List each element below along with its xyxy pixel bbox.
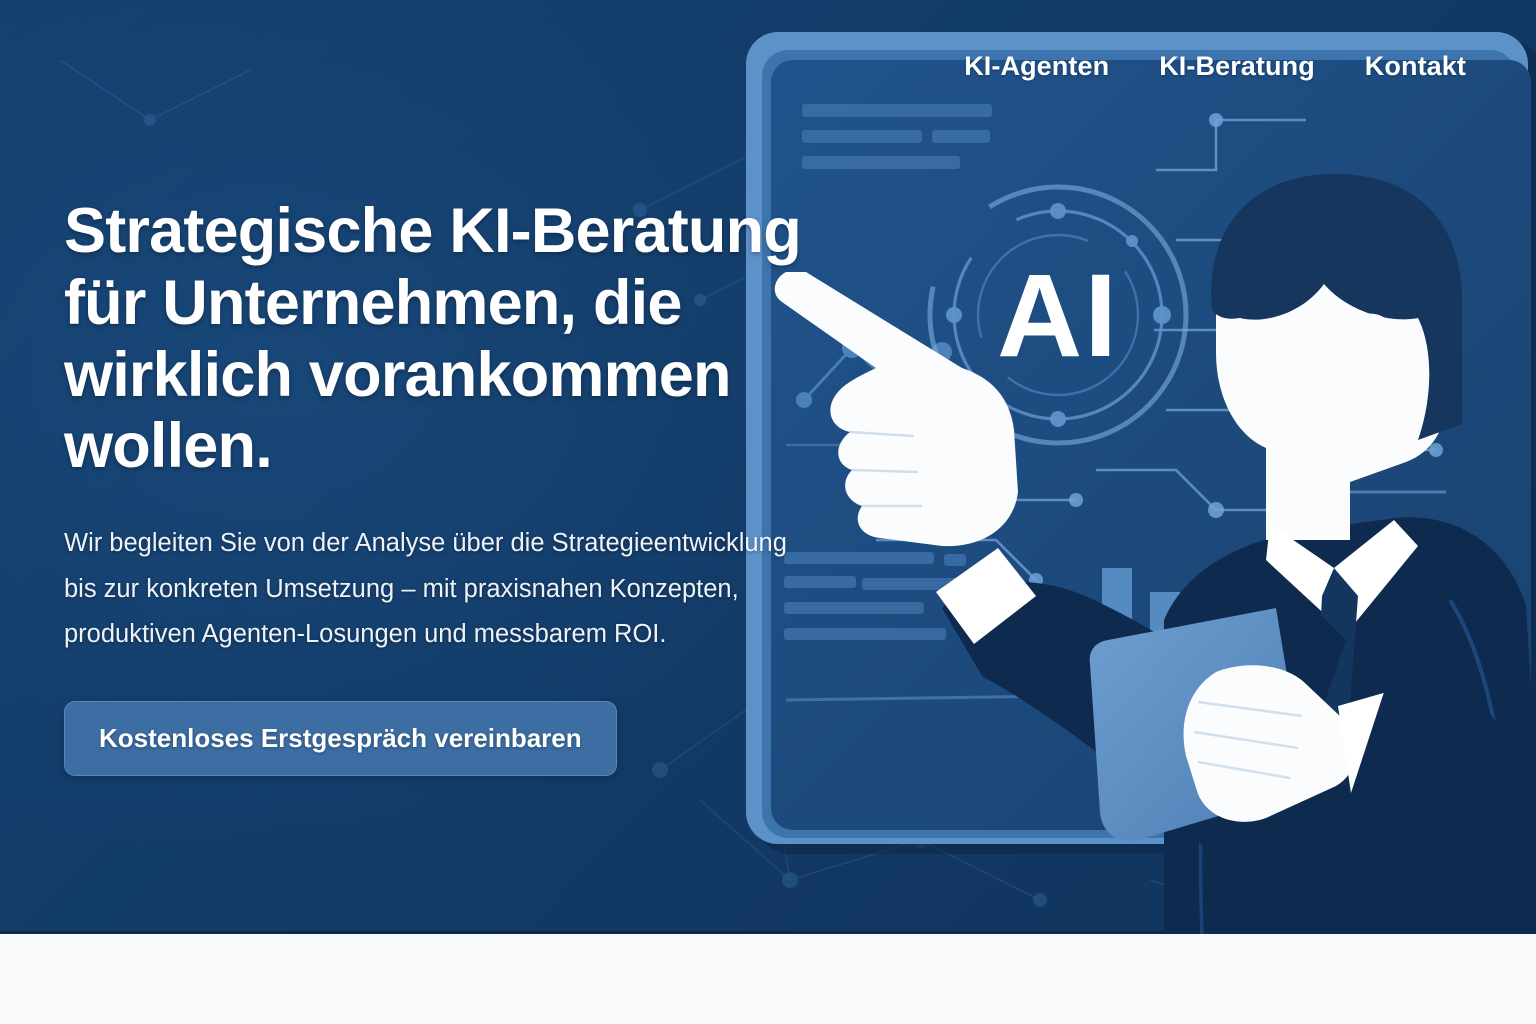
hero-copy-block: Strategische KI-Beratung für Unternehmen… xyxy=(64,196,944,776)
main-navigation: KI-Agenten KI-Beratung Kontakt xyxy=(0,0,1536,132)
hero-subcopy: Wir begleiten Sie von der Analyse über d… xyxy=(64,521,924,657)
headline-line-3: wirklich vorankommen xyxy=(64,340,731,410)
cta-button-erstgespraech[interactable]: Kostenloses Erstgespräch vereinbaren xyxy=(64,701,617,776)
page-root: AI xyxy=(0,0,1536,1024)
hero-section: AI xyxy=(0,0,1536,934)
headline-line-4: wollen. xyxy=(64,411,272,481)
subcopy-line-3: produktiven Agenten-Losungen und messbar… xyxy=(64,620,666,648)
headline-line-2: für Unternehmen, die xyxy=(64,268,682,338)
nav-item-ki-agenten[interactable]: KI-Agenten xyxy=(964,51,1109,82)
page-title: Strategische KI-Beratung für Unternehmen… xyxy=(64,196,894,483)
ai-badge-text: AI xyxy=(997,250,1119,382)
subcopy-line-2: bis zur konkreten Umsetzung – mit praxis… xyxy=(64,575,739,603)
nav-item-ki-beratung[interactable]: KI-Beratung xyxy=(1159,51,1315,82)
headline-line-1: Strategische KI-Beratung xyxy=(64,196,801,266)
below-hero-section xyxy=(0,934,1536,1024)
nav-item-kontakt[interactable]: Kontakt xyxy=(1365,51,1466,82)
subcopy-line-1: Wir begleiten Sie von der Analyse über d… xyxy=(64,529,787,557)
